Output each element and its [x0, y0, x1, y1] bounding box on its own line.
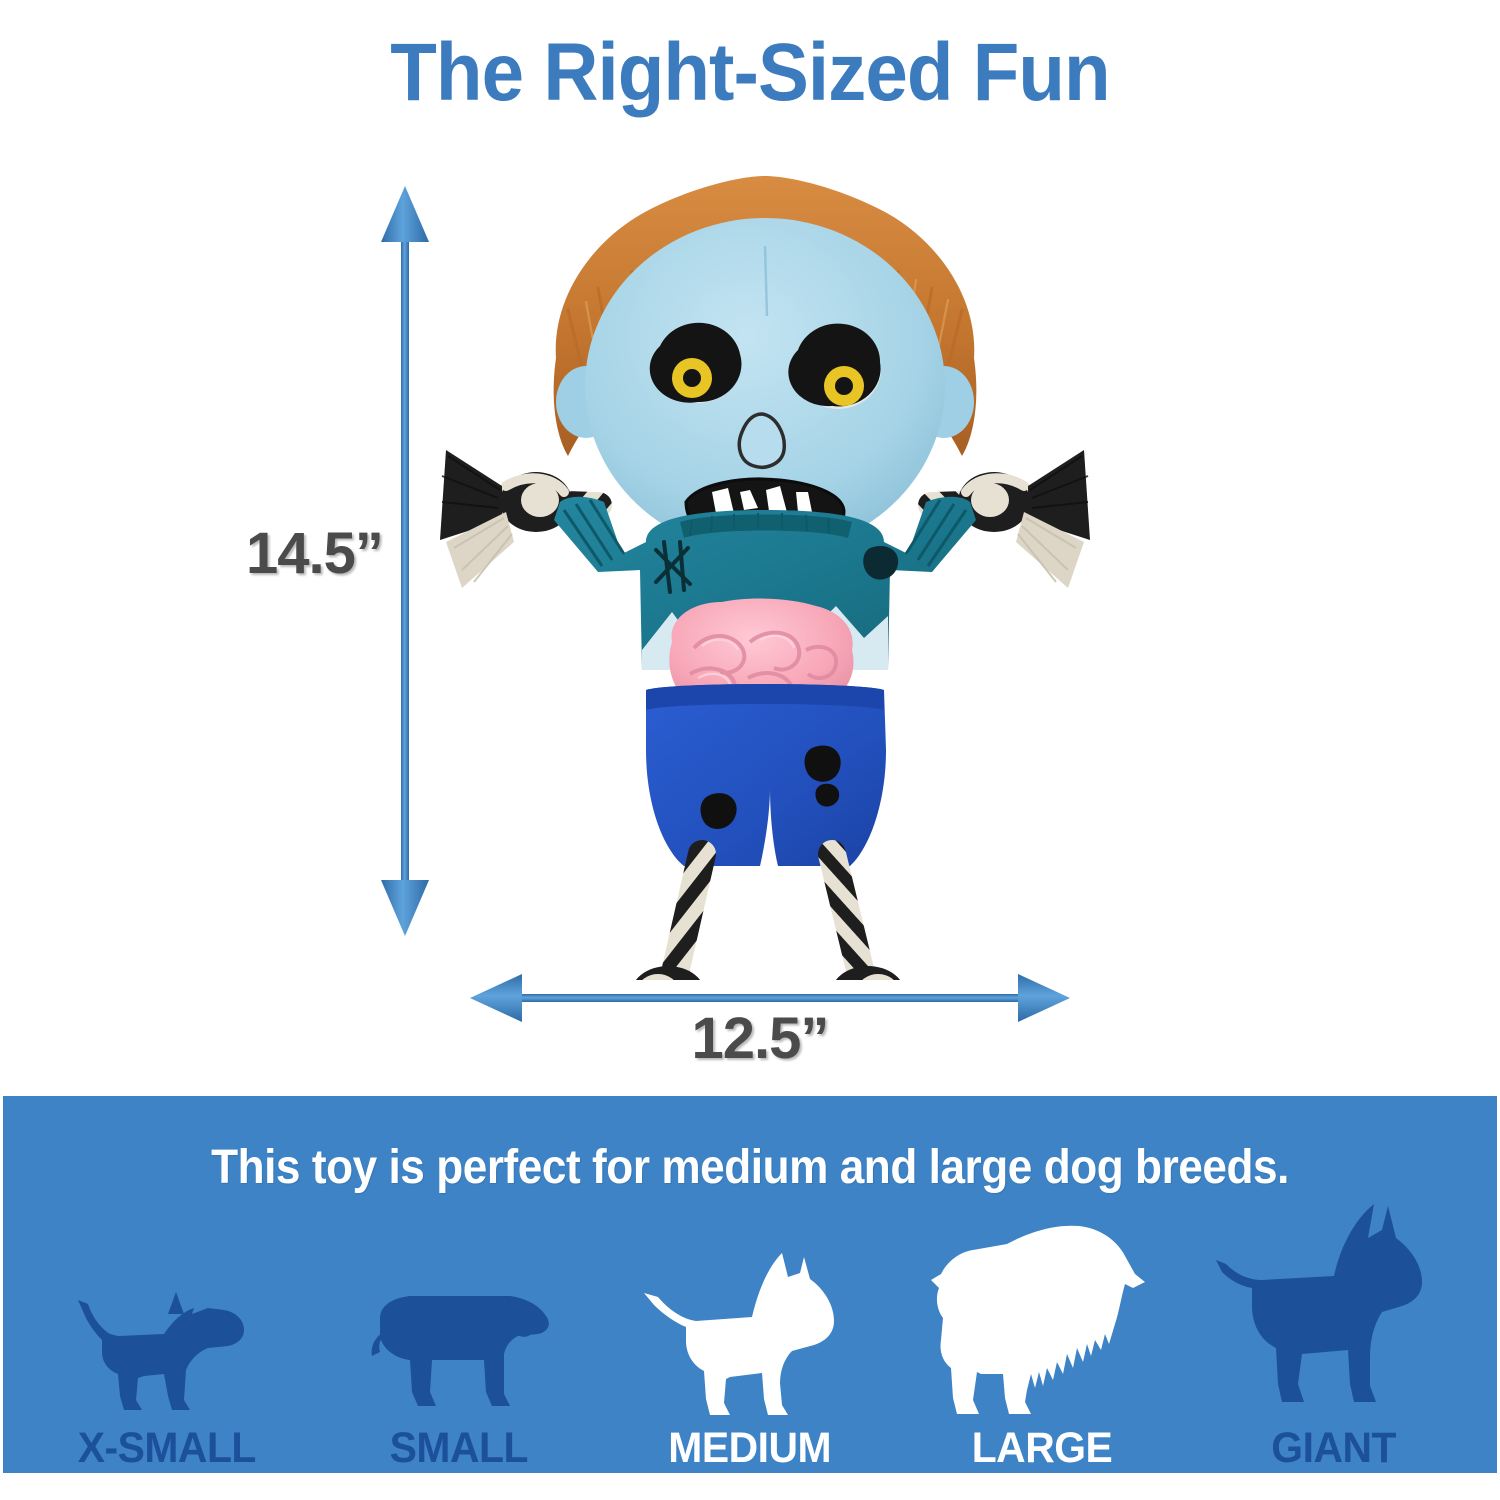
toy-shirt-hole [863, 546, 898, 580]
size-scale: X-SMALL SMALL MEDIUM [3, 1201, 1497, 1473]
size-recommendation-banner: This toy is perfect for medium and large… [3, 1096, 1497, 1473]
height-dimension-arrow [377, 186, 433, 936]
size-option-small[interactable]: SMALL [313, 1201, 605, 1473]
width-dimension-label: 12.5” [0, 1005, 1500, 1072]
toy-head [585, 218, 945, 554]
toy-leg-right-rope [820, 854, 910, 980]
product-image-zombie-rope-toy [440, 150, 1090, 980]
size-label-medium: MEDIUM [669, 1424, 832, 1473]
toy-nose [739, 414, 784, 467]
chihuahua-icon [72, 1274, 262, 1422]
golden-retriever-icon [929, 1222, 1154, 1422]
size-option-large[interactable]: LARGE [896, 1201, 1188, 1473]
size-option-x-small[interactable]: X-SMALL [21, 1201, 313, 1473]
dachshund-icon [358, 1274, 558, 1422]
infographic-page: The Right-Sized Fun 14.5” 12.5” [0, 0, 1500, 1500]
size-option-medium[interactable]: MEDIUM [604, 1201, 896, 1473]
size-label-x-small: X-SMALL [78, 1424, 256, 1473]
size-option-giant[interactable]: GIANT [1187, 1201, 1479, 1473]
size-label-giant: GIANT [1271, 1424, 1396, 1473]
toy-pants [646, 684, 886, 866]
page-title: The Right-Sized Fun [53, 26, 1448, 120]
toy-leg-left-rope [626, 854, 716, 980]
bull-terrier-icon [642, 1247, 857, 1422]
banner-message: This toy is perfect for medium and large… [63, 1140, 1437, 1195]
size-label-large: LARGE [971, 1424, 1112, 1473]
height-dimension-label: 14.5” [246, 520, 383, 587]
width-dimension-value: 12.5” [692, 1005, 829, 1072]
great-dane-icon [1216, 1202, 1451, 1422]
size-label-small: SMALL [389, 1424, 527, 1473]
